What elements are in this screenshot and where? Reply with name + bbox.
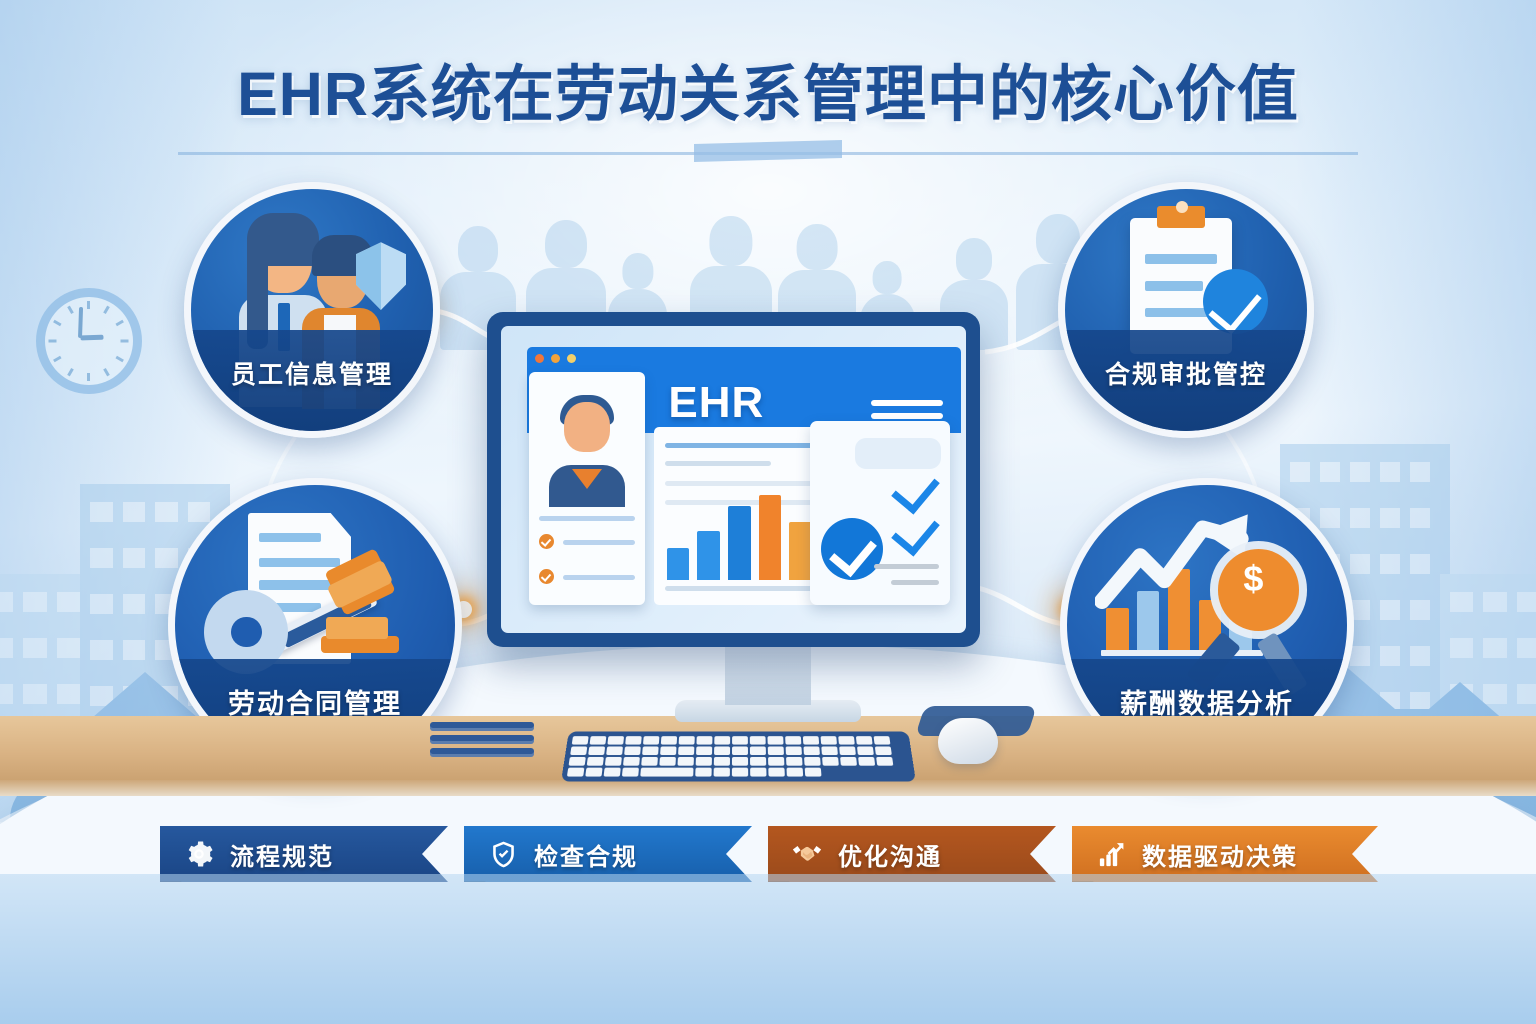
window-max-dot[interactable]: [567, 354, 576, 363]
page-title: EHR系统在劳动关系管理中的核心价值: [0, 44, 1536, 133]
building-window: [1410, 554, 1430, 574]
clock-tick: [103, 368, 110, 376]
building-window: [123, 502, 146, 522]
silhouette-head: [956, 238, 992, 279]
silhouette-head: [458, 226, 498, 272]
keyboard-key: [567, 768, 585, 777]
building-window: [1410, 508, 1430, 528]
clock-tick: [87, 301, 90, 309]
keyboard-key: [858, 757, 875, 766]
building-window: [1380, 554, 1400, 574]
building-window: [57, 592, 80, 612]
keyboard-key: [572, 736, 589, 744]
badge-caption: 合规审批管控: [1065, 330, 1307, 431]
keyboard-key: [569, 757, 586, 766]
check-icon: [891, 507, 940, 557]
keyboard-key: [838, 736, 855, 744]
keyboard-key: [696, 736, 712, 744]
keyboard-key: [659, 757, 676, 766]
building-window: [1483, 592, 1506, 612]
keyboard-key: [625, 736, 642, 744]
clock-tick: [53, 356, 61, 363]
building-window: [123, 640, 146, 660]
building-window: [1483, 638, 1506, 658]
keyboard-key: [876, 757, 893, 766]
badge-label: 劳动合同管理: [228, 682, 402, 721]
badge-contract-compliance[interactable]: 合规审批管控: [1058, 182, 1314, 438]
keyboard-key: [804, 757, 821, 766]
keyboard-key: [588, 746, 605, 755]
building-window: [23, 684, 46, 704]
building-window: [1450, 592, 1473, 612]
handshake-icon: [790, 837, 824, 871]
keyboard-key: [678, 746, 694, 755]
placeholder-line: [539, 516, 634, 521]
keyboard-keys: [567, 736, 910, 776]
building-window: [90, 502, 113, 522]
building-window: [1380, 462, 1400, 482]
chart-bar: [697, 531, 720, 581]
growth-chart-icon: [1094, 837, 1128, 871]
keyboard-key: [732, 746, 748, 755]
keyboard-key: [714, 736, 730, 744]
badge-employee-info[interactable]: 员工信息管理: [184, 182, 440, 438]
keyboard-key: [732, 757, 748, 766]
keyboard-key: [696, 746, 712, 755]
avatar-head: [564, 402, 610, 452]
keyboard-key: [641, 757, 658, 766]
keyboard-key: [768, 746, 784, 755]
silhouette-head: [873, 261, 902, 294]
book-stack: [430, 722, 534, 752]
building-window: [1380, 508, 1400, 528]
building-window: [0, 638, 13, 658]
building-window: [90, 548, 113, 568]
clock-tick: [87, 373, 90, 381]
building-window: [1350, 462, 1370, 482]
clock-tick: [67, 306, 74, 314]
shield-check-icon: [486, 837, 520, 871]
keyboard-key: [767, 736, 783, 744]
ribbon-label: 检查合规: [534, 837, 638, 872]
check-bullet-icon: [539, 534, 554, 549]
keyboard-key: [604, 768, 621, 777]
keyboard-key: [642, 746, 659, 755]
keyboard-key: [590, 736, 607, 744]
monitor-neck: [725, 647, 811, 705]
keyboard-key: [695, 768, 712, 777]
clock-tick: [67, 368, 74, 376]
building-window: [1380, 600, 1400, 620]
desktop-monitor[interactable]: EHR: [487, 312, 980, 647]
building-window: [1350, 554, 1370, 574]
keyboard-key: [874, 736, 891, 744]
keyboard-key: [660, 746, 676, 755]
placeholder-line: [665, 461, 771, 466]
keyboard-key: [786, 757, 803, 766]
keyboard-key: [714, 757, 730, 766]
building-window: [0, 592, 13, 612]
employee-profile-card: [529, 372, 645, 605]
badge-label: 合规审批管控: [1105, 355, 1267, 391]
infographic-canvas: EHR系统在劳动关系管理中的核心价值: [0, 0, 1536, 1024]
keyboard-key: [803, 746, 819, 755]
approval-pill: [855, 438, 941, 469]
keyboard-key: [677, 757, 693, 766]
keyboard-key: [786, 768, 803, 777]
building-window: [23, 638, 46, 658]
keyboard-key: [607, 736, 624, 744]
keyboard-key: [640, 768, 693, 777]
keyboard-key: [822, 757, 839, 766]
building-window: [1290, 462, 1310, 482]
placeholder-line: [563, 540, 635, 545]
keyboard-key: [570, 746, 587, 755]
computer-keyboard[interactable]: [561, 732, 916, 782]
floor-band: [0, 874, 1536, 1024]
keyboard-key: [821, 736, 837, 744]
clock-tick: [115, 356, 123, 363]
keyboard-key: [785, 736, 801, 744]
clock-minute-hand: [78, 307, 83, 338]
clock-tick: [49, 340, 57, 343]
building-window: [1517, 592, 1536, 612]
silhouette-head: [545, 220, 587, 268]
badge-label: 薪酬数据分析: [1120, 682, 1294, 721]
keyboard-key: [679, 736, 695, 744]
keyboard-key: [750, 736, 766, 744]
keyboard-key: [661, 736, 677, 744]
keyboard-key: [786, 746, 802, 755]
placeholder-line: [891, 580, 938, 585]
placeholder-line: [874, 564, 938, 569]
building-window: [123, 548, 146, 568]
keyboard-key: [732, 768, 748, 777]
keyboard-key: [857, 746, 874, 755]
building-window: [1410, 462, 1430, 482]
clock-tick: [103, 306, 110, 314]
check-bullet-icon: [539, 569, 554, 584]
page-title-wrap: EHR系统在劳动关系管理中的核心价值: [0, 44, 1536, 133]
keyboard-key: [821, 746, 838, 755]
chart-bar: [759, 495, 782, 580]
placeholder-line: [563, 575, 635, 580]
keyboard-key: [750, 757, 766, 766]
clock-tick: [53, 320, 61, 327]
building-window: [1450, 638, 1473, 658]
keyboard-key: [803, 736, 819, 744]
keyboard-key: [875, 746, 892, 755]
approved-check-icon: [821, 518, 883, 580]
window-min-dot[interactable]: [551, 354, 560, 363]
keyboard-key: [643, 736, 659, 744]
keyboard-key: [585, 768, 602, 777]
window-dots: [535, 354, 576, 363]
clock-tick: [115, 320, 123, 327]
chart-bar: [789, 522, 812, 581]
silhouette-head: [709, 216, 752, 266]
building-window: [123, 594, 146, 614]
wall-clock-icon: [36, 288, 142, 394]
keyboard-key: [696, 757, 712, 766]
desk-edge: [0, 780, 1536, 796]
building-window: [57, 638, 80, 658]
keyboard-key: [839, 746, 856, 755]
keyboard-key: [750, 768, 766, 777]
keyboard-key: [840, 757, 857, 766]
badge-label: 员工信息管理: [231, 355, 393, 391]
avatar-collar: [572, 469, 602, 489]
building-window: [1320, 462, 1340, 482]
badge-caption: 员工信息管理: [191, 330, 433, 431]
screen-brand-label: EHR: [668, 378, 764, 428]
clock-tick: [121, 340, 129, 343]
computer-mouse[interactable]: [938, 718, 998, 764]
keyboard-key: [714, 746, 730, 755]
monitor-screen: EHR: [501, 326, 966, 633]
keyboard-key: [622, 768, 639, 777]
keyboard-key: [624, 746, 641, 755]
building-window: [90, 594, 113, 614]
building-window: [1350, 508, 1370, 528]
ribbon-label: 数据驱动决策: [1142, 837, 1298, 872]
clock-hour-hand: [80, 335, 103, 341]
building-window: [0, 684, 13, 704]
keyboard-key: [732, 736, 748, 744]
window-close-dot[interactable]: [535, 354, 544, 363]
keyboard-key: [714, 768, 730, 777]
building-window: [57, 684, 80, 704]
building-window: [23, 592, 46, 612]
building-window: [90, 640, 113, 660]
building-window: [1410, 600, 1430, 620]
keyboard-key: [768, 757, 784, 766]
gear-icon: [182, 837, 216, 871]
building-window: [1517, 638, 1536, 658]
silhouette-head: [622, 253, 653, 289]
keyboard-key: [623, 757, 640, 766]
chart-bar: [667, 548, 690, 580]
keyboard-key: [856, 736, 873, 744]
silhouette-head: [796, 224, 837, 271]
keyboard-key: [750, 746, 766, 755]
ribbon-label: 优化沟通: [838, 837, 942, 872]
keyboard-key: [805, 768, 822, 777]
keyboard-key: [606, 746, 623, 755]
keyboard-key: [768, 768, 785, 777]
chart-bar: [728, 506, 751, 581]
keyboard-key: [605, 757, 622, 766]
building-window: [1410, 646, 1430, 666]
keyboard-key: [587, 757, 604, 766]
approval-card: [810, 421, 950, 605]
ribbon-label: 流程规范: [230, 837, 334, 872]
